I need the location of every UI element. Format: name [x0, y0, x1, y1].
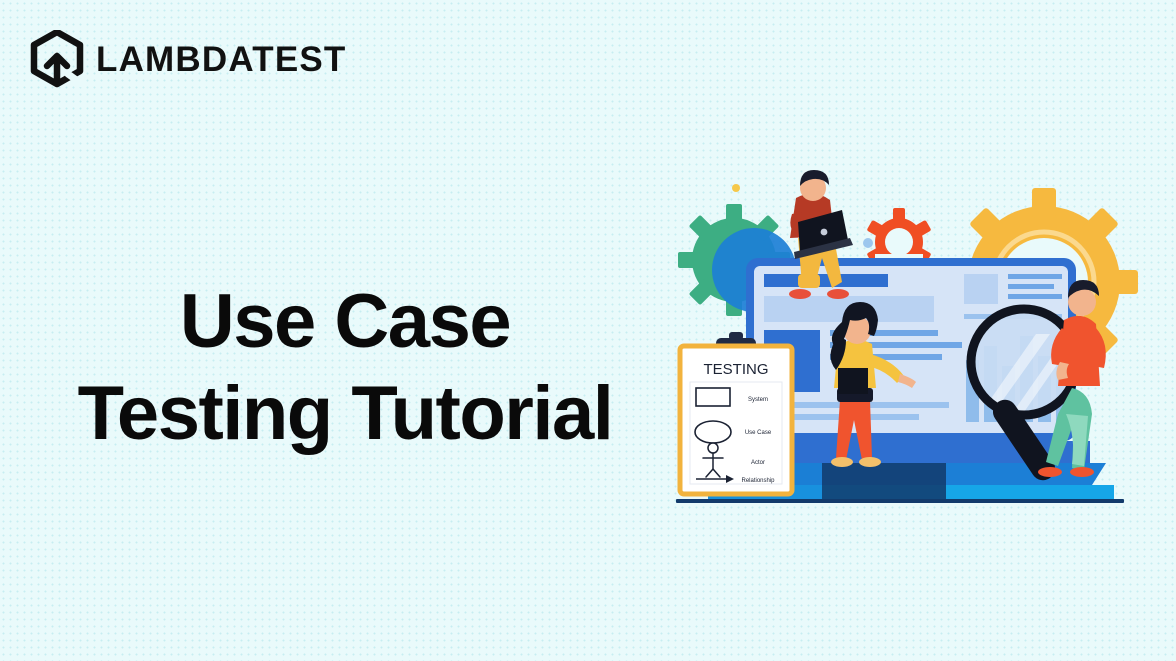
- page-title-line-2: Testing Tutorial: [30, 368, 660, 460]
- testing-clipboard: TESTING System Use Case Actor: [680, 332, 792, 494]
- page-title-line-1: Use Case: [30, 276, 660, 368]
- spark-dot-icon: [863, 238, 873, 248]
- clipboard-title: TESTING: [703, 361, 768, 378]
- lambdatest-logo[interactable]: LAMBDATEST: [30, 30, 347, 88]
- screen-bar: [764, 274, 888, 287]
- ground-line: [676, 499, 1124, 503]
- lambdatest-hexagon-arrow-logo-icon: [30, 30, 84, 88]
- clipboard-legend-label: Actor: [751, 460, 765, 466]
- use-case-testing-illustration: TESTING System Use Case Actor: [672, 170, 1142, 510]
- lambdatest-wordmark: LAMBDATEST: [96, 42, 347, 77]
- clipboard-legend-label: Relationship: [741, 478, 775, 484]
- clipboard-legend-label: System: [748, 397, 768, 403]
- page-title: Use Case Testing Tutorial: [30, 276, 660, 460]
- banner-root: LAMBDATEST Use Case Testing Tutorial: [0, 0, 1176, 661]
- spark-dot-icon: [732, 184, 740, 192]
- clipboard-legend-label: Use Case: [745, 430, 772, 436]
